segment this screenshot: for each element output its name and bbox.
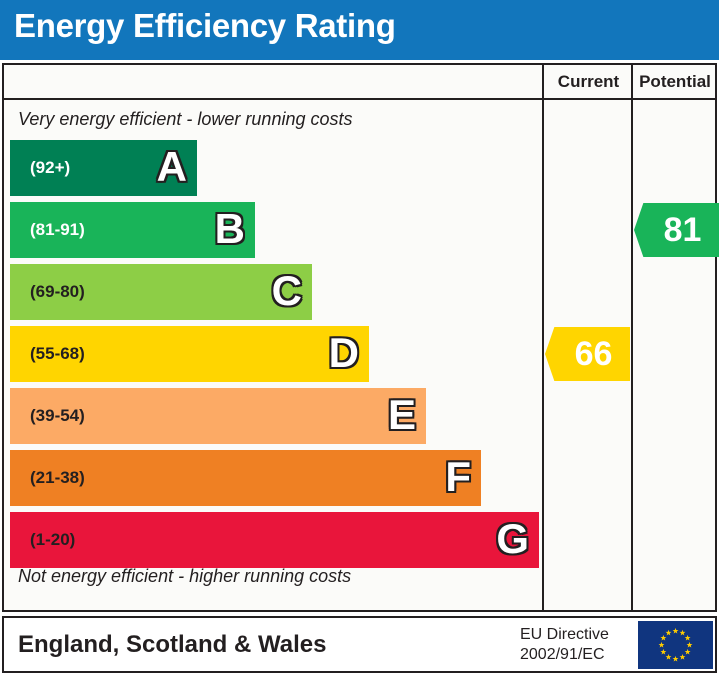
rating-bar-range-b: (81-91) (30, 220, 85, 240)
rating-bar-letter-a: A (157, 146, 187, 188)
rating-table: Current Potential Very energy efficient … (2, 63, 717, 612)
rating-bar-range-f: (21-38) (30, 468, 85, 488)
footer-directive-label: EU Directive 2002/91/EC (520, 625, 609, 665)
rating-bar-letter-g: G (496, 518, 529, 560)
rating-bar-b: (81-91)B (10, 202, 255, 258)
rating-bar-letter-d: D (329, 332, 359, 374)
rating-bar-d: (55-68)D (10, 326, 369, 382)
ratings-area: Very energy efficient - lower running co… (4, 100, 540, 610)
rating-bar-range-c: (69-80) (30, 282, 85, 302)
rating-bar-letter-e: E (388, 394, 416, 436)
column-divider-current (542, 65, 544, 610)
column-header-potential: Potential (633, 65, 717, 98)
rating-bar-range-g: (1-20) (30, 530, 75, 550)
rating-arrow-current: 66 (545, 327, 630, 381)
rating-value-potential: 81 (634, 213, 719, 247)
chart-title-band: Energy Efficiency Rating (0, 0, 719, 60)
rating-bar-range-d: (55-68) (30, 344, 85, 364)
rating-bars: (92+)A(81-91)B(69-80)C(55-68)D(39-54)E(2… (4, 140, 540, 592)
page-title: Energy Efficiency Rating (14, 7, 396, 45)
rating-bar-range-e: (39-54) (30, 406, 85, 426)
caption-efficient: Very energy efficient - lower running co… (18, 109, 353, 130)
column-divider-potential (631, 65, 633, 610)
rating-value-current: 66 (545, 337, 630, 371)
rating-bar-letter-c: C (272, 270, 302, 312)
rating-bar-g: (1-20)G (10, 512, 539, 568)
rating-bar-range-a: (92+) (30, 158, 70, 178)
rating-bar-c: (69-80)C (10, 264, 312, 320)
rating-bar-f: (21-38)F (10, 450, 481, 506)
rating-bar-letter-f: F (445, 456, 471, 498)
rating-arrow-potential: 81 (634, 203, 719, 257)
footer-directive-line1: EU Directive (520, 625, 609, 645)
energy-efficiency-rating-chart: Energy Efficiency Rating Current Potenti… (0, 0, 719, 675)
rating-bar-a: (92+)A (10, 140, 197, 196)
column-header-current: Current (544, 65, 633, 98)
eu-flag-icon (638, 621, 713, 669)
rating-bar-letter-b: B (215, 208, 245, 250)
table-header-row: Current Potential (4, 65, 715, 100)
rating-bar-e: (39-54)E (10, 388, 426, 444)
footer-directive-line2: 2002/91/EC (520, 645, 609, 665)
footer-region-label: England, Scotland & Wales (18, 631, 326, 659)
footer-bar: England, Scotland & Wales EU Directive 2… (2, 616, 717, 673)
